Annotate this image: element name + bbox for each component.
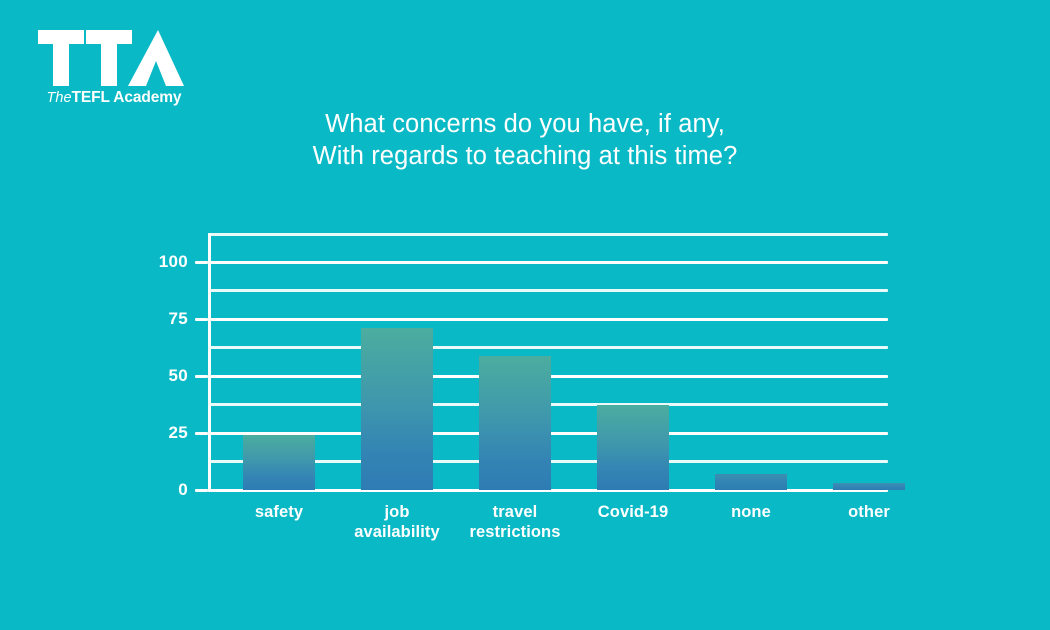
gridline-87.5 [208, 289, 888, 292]
x-axis-label-other: other [799, 503, 939, 523]
bar-other [833, 483, 905, 490]
y-tick-50 [195, 375, 208, 378]
y-axis-label-100: 100 [93, 252, 188, 272]
x-axis-label-line-1: none [731, 503, 771, 521]
y-tick-0 [195, 489, 208, 492]
x-axis-label-line-1: safety [255, 503, 303, 521]
x-axis-label-line-2: restrictions [469, 523, 560, 541]
x-axis-label-line-2: availability [354, 523, 440, 541]
gridline-75 [208, 318, 888, 321]
y-axis-label-50: 50 [93, 366, 188, 386]
y-tick-75 [195, 318, 208, 321]
x-axis-label-line-1: job [384, 503, 409, 521]
slide-canvas: TheTEFL Academy What concerns do you hav… [0, 0, 1050, 630]
chart-y-axis [208, 233, 211, 492]
y-tick-100 [195, 261, 208, 264]
bar-job-availability [361, 328, 433, 490]
x-axis-label-line-1: other [848, 503, 890, 521]
gridline-62.5 [208, 346, 888, 349]
y-tick-25 [195, 432, 208, 435]
bar-travel-restrictions [479, 356, 551, 490]
bar-Covid-19 [597, 405, 669, 490]
x-axis-label-line-1: Covid-19 [598, 503, 668, 521]
gridline-112.5 [208, 233, 888, 236]
y-axis-label-75: 75 [93, 309, 188, 329]
gridline-100 [208, 261, 888, 264]
bar-chart: 1007550250 safetyjobavailabilitytravelre… [0, 0, 1050, 630]
y-axis-label-0: 0 [93, 480, 188, 500]
x-axis-label-line-1: travel [493, 503, 538, 521]
y-axis-label-25: 25 [93, 423, 188, 443]
bar-safety [243, 435, 315, 490]
bar-none [715, 474, 787, 490]
